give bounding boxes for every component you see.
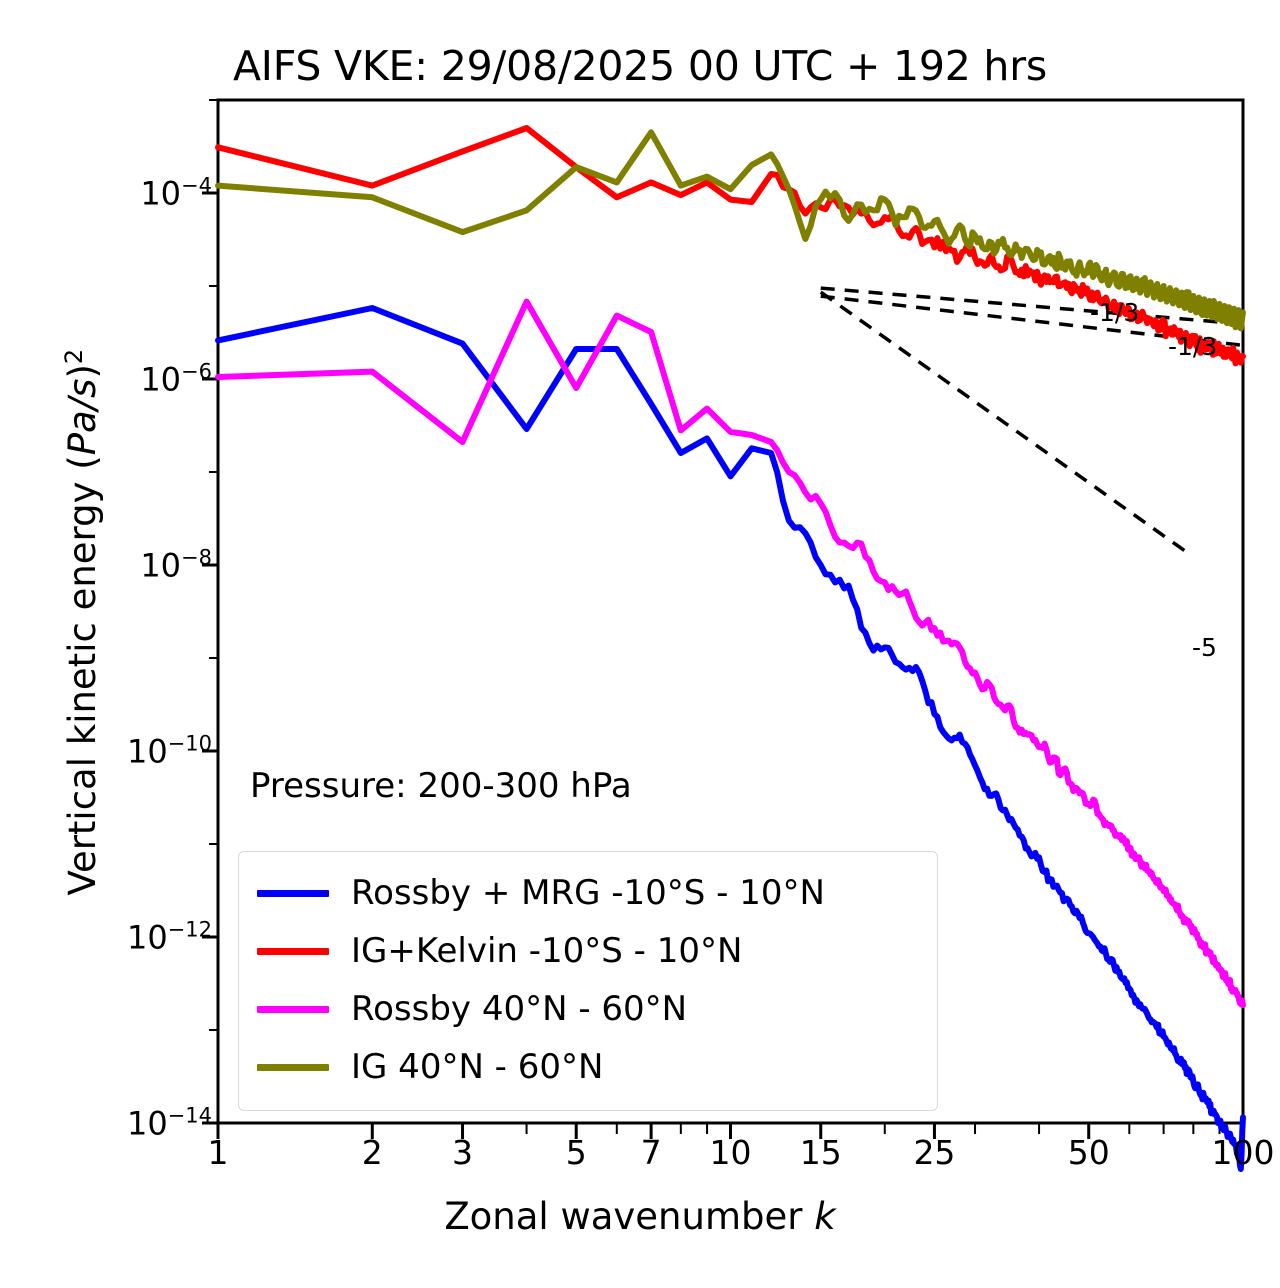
y-tick-label: 10−14 xyxy=(127,1104,212,1143)
pressure-annotation: Pressure: 200-300 hPa xyxy=(250,766,632,806)
legend-item[interactable]: Rossby 40°N - 60°N xyxy=(257,980,919,1038)
y-tick-base: 10 xyxy=(127,918,168,956)
y-tick-exponent: −4 xyxy=(181,174,212,198)
x-tick-label: 50 xyxy=(1068,1133,1110,1172)
slope-annotation-lower-third: -1/3 xyxy=(1168,332,1217,361)
x-tick-label: 10 xyxy=(710,1133,752,1172)
y-tick-base: 10 xyxy=(140,360,181,398)
legend-item[interactable]: IG+Kelvin -10°S - 10°N xyxy=(257,922,919,980)
y-axis-ticks xyxy=(202,100,218,1123)
legend-color-swatch xyxy=(257,948,329,955)
y-tick-base: 10 xyxy=(127,732,168,770)
y-tick-base: 10 xyxy=(127,1104,168,1142)
legend-label: IG+Kelvin -10°S - 10°N xyxy=(351,931,742,971)
legend-item[interactable]: IG 40°N - 60°N xyxy=(257,1038,919,1096)
slope-annotation-minus-five: -5 xyxy=(1192,633,1217,662)
x-tick-label: 1 xyxy=(208,1133,229,1172)
y-tick-label: 10−4 xyxy=(140,174,212,213)
legend-label: Rossby + MRG -10°S - 10°N xyxy=(351,873,825,913)
x-tick-label: 15 xyxy=(800,1133,842,1172)
x-tick-label: 25 xyxy=(913,1133,955,1172)
slope-annotation-upper-third: -1/3 xyxy=(1090,298,1139,327)
y-tick-exponent: −6 xyxy=(181,360,212,384)
y-tick-exponent: −14 xyxy=(168,1104,212,1128)
legend-color-swatch xyxy=(257,890,329,897)
y-tick-label: 10−12 xyxy=(127,918,212,957)
x-tick-label: 5 xyxy=(566,1133,587,1172)
x-tick-label: 7 xyxy=(641,1133,662,1172)
y-tick-base: 10 xyxy=(140,546,181,584)
y-tick-base: 10 xyxy=(140,174,181,212)
legend-color-swatch xyxy=(257,1006,329,1013)
legend-label: IG 40°N - 60°N xyxy=(351,1047,603,1087)
y-tick-exponent: −12 xyxy=(168,918,212,942)
legend-color-swatch xyxy=(257,1064,329,1071)
x-tick-label: 100 xyxy=(1212,1133,1275,1172)
legend-item[interactable]: Rossby + MRG -10°S - 10°N xyxy=(257,864,919,922)
legend-label: Rossby 40°N - 60°N xyxy=(351,989,687,1029)
legend: Rossby + MRG -10°S - 10°NIG+Kelvin -10°S… xyxy=(238,851,938,1111)
chart-page: AIFS VKE: 29/08/2025 00 UTC + 192 hrs Ve… xyxy=(0,0,1280,1288)
y-tick-label: 10−8 xyxy=(140,546,212,585)
y-tick-exponent: −8 xyxy=(181,546,212,570)
y-tick-label: 10−10 xyxy=(127,732,212,771)
y-tick-label: 10−6 xyxy=(140,360,212,399)
x-tick-label: 2 xyxy=(362,1133,383,1172)
x-tick-label: 3 xyxy=(452,1133,473,1172)
y-tick-exponent: −10 xyxy=(168,732,212,756)
